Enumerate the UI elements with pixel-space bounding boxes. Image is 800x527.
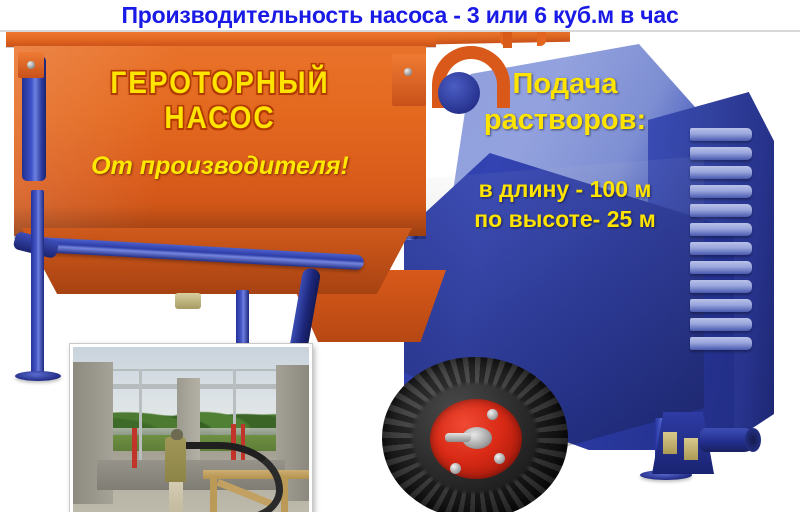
photo-marker-1 [132,428,137,468]
label-plate-2 [684,438,698,460]
outlet-pipe-mouth [745,428,761,452]
wheel-lug-2 [494,453,505,464]
louver-vent-icon [690,128,752,360]
ground-background [0,512,800,527]
spec-line-2: по высоте- 25 м [432,204,698,234]
headline-text: Производительность насоса - 3 или 6 куб.… [121,2,678,29]
wheel-lug-3 [450,463,461,474]
support-leg-icon [31,190,44,375]
brand-line-1: ГЕРОТОРНЫЙ [14,66,426,100]
banner-divider [0,30,800,32]
photo-stud-1 [139,369,142,475]
advertisement-image: ГЕРОТОРНЫЙ НАСОС От производителя! [0,0,800,527]
drain-nut-icon [175,293,201,309]
blue-panel-heading: Подача растворов: [440,66,690,138]
photo-worker-head [171,429,183,440]
label-plate-1 [663,432,677,454]
hopper-top-lip [6,31,436,47]
blue-panel-specs: в длину - 100 м по высоте- 25 м [432,174,698,234]
hopper-branding: ГЕРОТОРНЫЙ НАСОС От производителя! [14,60,426,181]
wheel-icon [382,357,568,519]
support-foot-left [15,371,61,381]
wheel-axle-stub [445,433,471,442]
spec-line-1: в длину - 100 м [432,174,698,204]
heading-line-1: Подача [440,66,690,102]
slogan-text: От производителя! [14,152,426,181]
inset-application-photo [70,344,312,527]
hook-stem [503,30,512,48]
headline-banner: Производительность насоса - 3 или 6 куб.… [0,0,800,31]
heading-line-2: растворов: [440,102,690,138]
wheel-lug-1 [487,409,498,420]
brand-line-2: НАСОС [14,100,426,136]
photo-worker-body [165,437,186,483]
